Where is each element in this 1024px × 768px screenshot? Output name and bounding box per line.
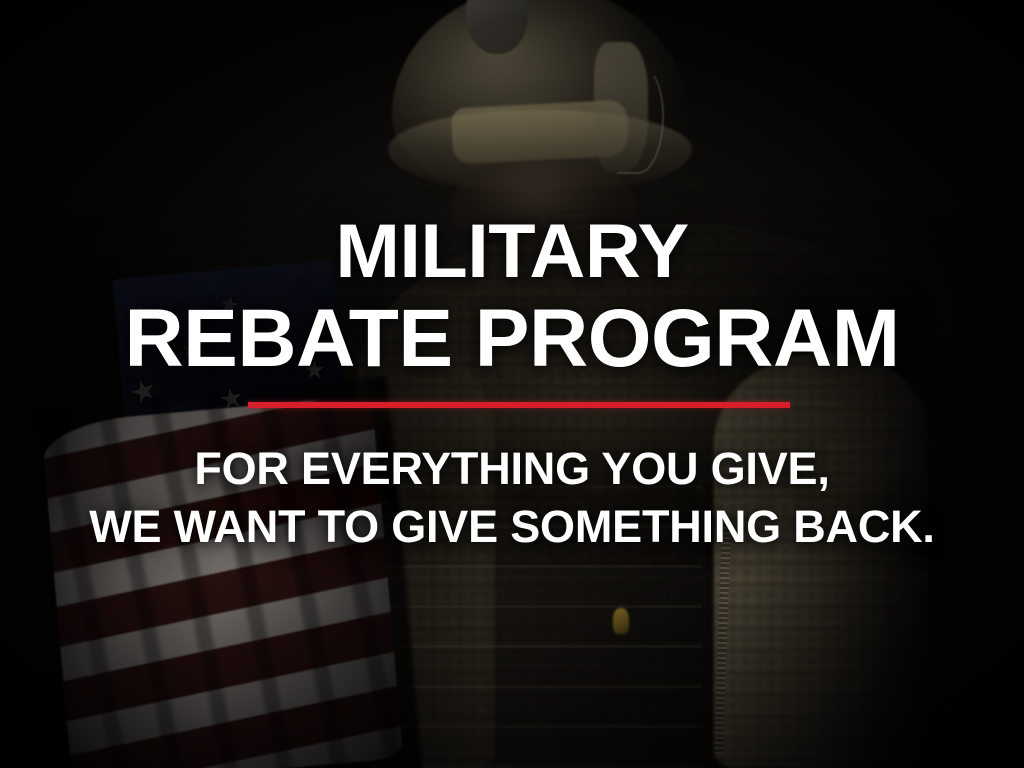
headline-line-2: REBATE PROGRAM bbox=[0, 300, 1024, 379]
text-overlay: MILITARY REBATE PROGRAM FOR EVERYTHING Y… bbox=[0, 0, 1024, 768]
subheadline-line-2: WE WANT TO GIVE SOMETHING BACK. bbox=[0, 504, 1024, 550]
red-divider-rule bbox=[248, 402, 790, 408]
military-rebate-poster: ★★★★★★★★★★ MILITARY REBATE PROGRAM FOR E… bbox=[0, 0, 1024, 768]
subheadline-line-1: FOR EVERYTHING YOU GIVE, bbox=[0, 446, 1024, 492]
headline-line-1: MILITARY bbox=[0, 216, 1024, 289]
